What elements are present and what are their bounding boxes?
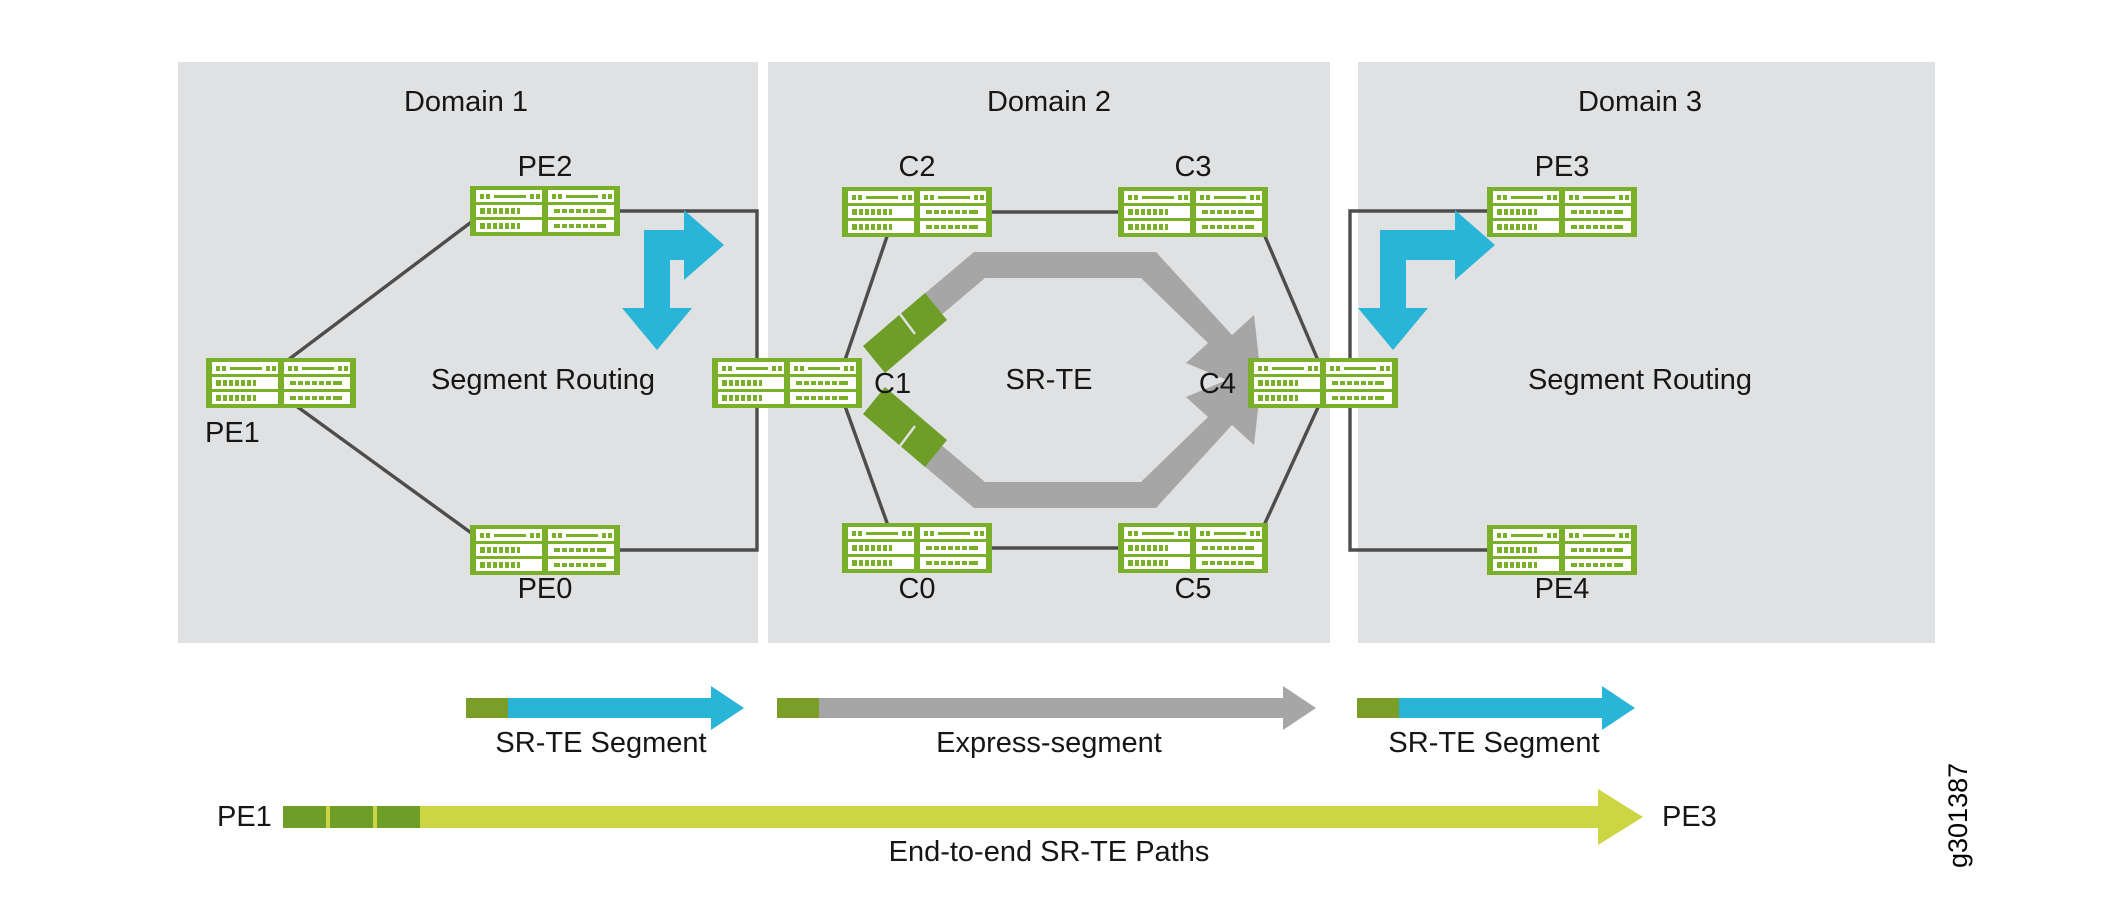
legend-tail-swatch: [1357, 698, 1399, 718]
node-label-c5: C5: [1174, 573, 1211, 605]
router-icon: [1118, 187, 1268, 237]
diagram-canvas: Domain 1 Domain 2 Domain 3 Segment Routi…: [0, 0, 2101, 915]
end-to-end-segment: [283, 806, 326, 828]
legend-item-srte-right: SR-TE Segment: [1357, 686, 1635, 759]
legend-arrow-body: [819, 686, 1316, 730]
router-icon: [1248, 358, 1398, 408]
domain-panel-1: [178, 62, 758, 643]
domain-3-title: Domain 3: [1578, 86, 1702, 118]
node-label-c4: C4: [1199, 368, 1236, 400]
end-to-end-path: PE1 PE3 End-to-end SR-TE Paths: [217, 789, 1717, 868]
node-label-pe4: PE4: [1535, 573, 1590, 605]
domain-2-title: Domain 2: [987, 86, 1111, 118]
end-to-end-caption: End-to-end SR-TE Paths: [889, 836, 1210, 868]
router-icon: [206, 358, 356, 408]
legend-arrow-body: [508, 686, 744, 730]
domain-2-center-label: SR-TE: [1006, 364, 1093, 396]
legend-label-express: Express-segment: [936, 727, 1162, 759]
domain-3-center-label: Segment Routing: [1528, 364, 1752, 396]
node-label-pe2: PE2: [518, 151, 573, 183]
end-to-end-segment: [330, 806, 373, 828]
legend-tail-swatch: [777, 698, 819, 718]
legend-arrow-body: [1399, 686, 1635, 730]
node-label-c1: C1: [874, 368, 911, 400]
router-icon: [842, 523, 992, 573]
domain-panel-3: [1358, 62, 1935, 643]
node-label-c0: C0: [898, 573, 935, 605]
end-to-end-end-label: PE3: [1662, 801, 1717, 833]
node-label-pe0: PE0: [518, 573, 573, 605]
node-label-c3: C3: [1174, 151, 1211, 183]
router-icon: [470, 186, 620, 236]
end-to-end-start-label: PE1: [217, 801, 272, 833]
legend-label-srte-right: SR-TE Segment: [1388, 727, 1599, 759]
end-to-end-segment: [377, 806, 420, 828]
router-icon: [712, 358, 862, 408]
router-icon: [842, 187, 992, 237]
domain-1-center-label: Segment Routing: [431, 364, 655, 396]
legend-item-express: Express-segment: [777, 686, 1316, 759]
legend-label-srte-left: SR-TE Segment: [495, 727, 706, 759]
router-icon: [1487, 187, 1637, 237]
node-label-pe1: PE1: [205, 417, 260, 449]
legend-tail-swatch: [466, 698, 508, 718]
legend: SR-TE Segment Express-segment SR-TE Segm…: [466, 686, 1635, 759]
domain-panels: [178, 62, 1935, 643]
domain-1-title: Domain 1: [404, 86, 528, 118]
network-topology-diagram: Domain 1 Domain 2 Domain 3 Segment Routi…: [0, 0, 2101, 915]
router-icon: [470, 525, 620, 575]
node-label-c2: C2: [898, 151, 935, 183]
router-icon: [1487, 525, 1637, 575]
watermark: g301387: [1943, 763, 1973, 868]
node-label-pe3: PE3: [1535, 151, 1590, 183]
legend-item-srte-left: SR-TE Segment: [466, 686, 744, 759]
router-icon: [1118, 523, 1268, 573]
